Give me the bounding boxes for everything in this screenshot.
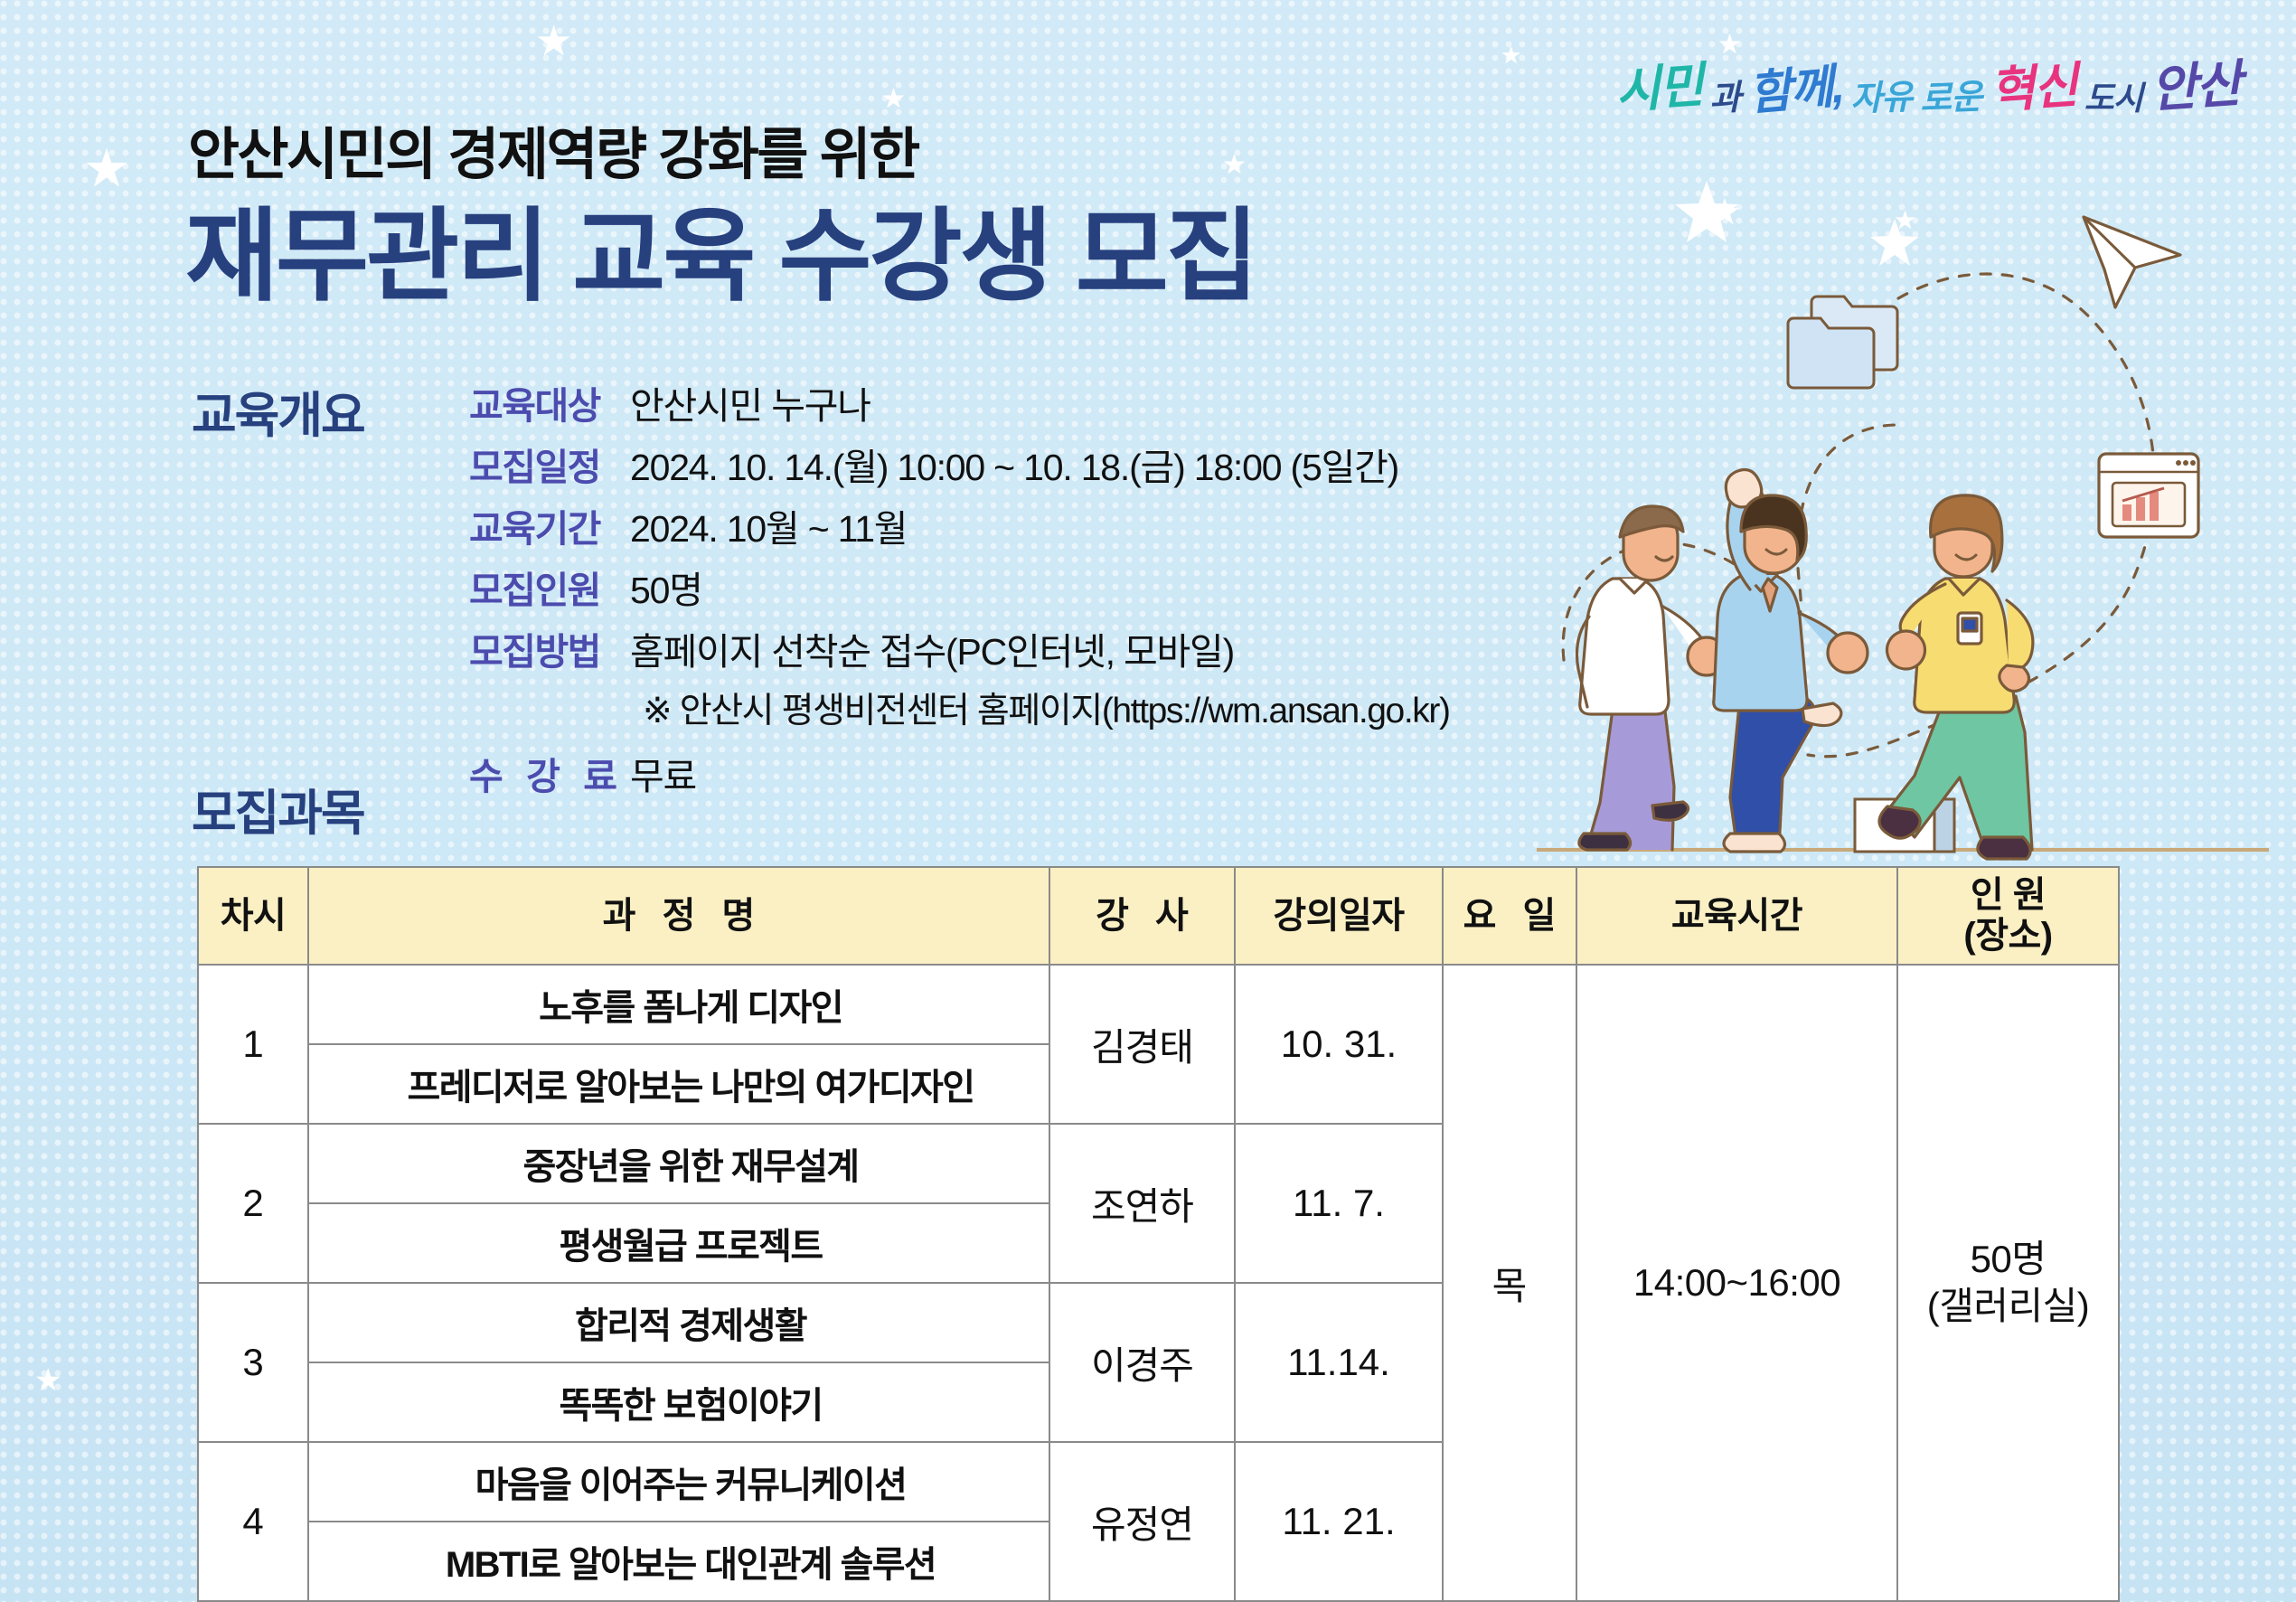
overview-value-method: 홈페이지 선착순 접수(PC인터넷, 모바일): [630, 621, 1234, 675]
star-icon: ★: [1222, 152, 1247, 179]
overview-label-method: 모집방법: [469, 621, 630, 675]
overview-value-fee: 무료: [630, 746, 696, 800]
logo-part-2: 과: [1708, 69, 1741, 119]
col-header-no: 차시: [198, 867, 308, 965]
overview-row-fee: 수 강 료 무료: [469, 746, 1644, 800]
cell-name-3a: 합리적 경제생활: [308, 1283, 1049, 1362]
overview-label-quota: 모집인원: [469, 560, 630, 614]
col-header-teacher: 강 사: [1049, 867, 1235, 965]
cell-no-1: 1: [198, 965, 308, 1124]
star-icon: ★: [83, 143, 130, 195]
col-header-capacity-line2: (장소): [1963, 916, 2052, 956]
overview-label-target: 교육대상: [469, 375, 630, 429]
overview-label-schedule: 모집일정: [469, 437, 630, 491]
cell-teacher-4: 유정연: [1049, 1442, 1235, 1601]
teamwork-illustration: [1537, 154, 2269, 868]
course-table-body: 1 노후를 폼나게 디자인 김경태 10. 31. 목 14:00~16:00 …: [198, 965, 2119, 1601]
cell-date-1: 10. 31.: [1235, 965, 1443, 1124]
col-header-time: 교육시간: [1576, 867, 1897, 965]
cell-no-2: 2: [198, 1124, 308, 1283]
overview-row-quota: 모집인원 50명: [469, 560, 1644, 614]
overview-value-period: 2024. 10월 ~ 11월: [630, 498, 907, 552]
cell-teacher-3: 이경주: [1049, 1283, 1235, 1442]
overview-section-heading: 교육개요: [192, 375, 364, 447]
table-header-row: 차시 과 정 명 강 사 강의일자 요 일 교육시간 인 원 (장소): [198, 867, 2119, 965]
logo-part-4: 자유: [1850, 69, 1914, 120]
overview-list: 교육대상 안산시민 누구나 모집일정 2024. 10. 14.(월) 10:0…: [469, 375, 1644, 807]
cell-time-shared: 14:00~16:00: [1576, 965, 1897, 1601]
cell-name-1a: 노후를 폼나게 디자인: [308, 965, 1049, 1044]
overview-label-fee: 수 강 료: [469, 746, 630, 800]
cell-name-4b: MBTI로 알아보는 대인관계 솔루션: [308, 1522, 1049, 1601]
star-icon: ★: [535, 20, 572, 61]
logo-part-5: 로운: [1919, 69, 1982, 120]
courses-section-heading: 모집과목: [192, 773, 364, 844]
logo-part-3: 함께,: [1746, 48, 1845, 124]
star-icon: ★: [34, 1365, 61, 1396]
logo-part-8: 안산: [2148, 43, 2242, 123]
cell-date-2: 11. 7.: [1235, 1124, 1443, 1283]
col-header-date: 강의일자: [1235, 867, 1443, 965]
cell-capacity-shared: 50명 (갤러리실): [1897, 965, 2119, 1601]
overview-label-period: 교육기간: [469, 498, 630, 552]
course-table-header: 차시 과 정 명 강 사 강의일자 요 일 교육시간 인 원 (장소): [198, 867, 2119, 965]
logo-part-6: 혁신: [1988, 45, 2079, 122]
overview-row-method: 모집방법 홈페이지 선착순 접수(PC인터넷, 모바일): [469, 621, 1644, 675]
cell-date-3: 11.14.: [1235, 1283, 1443, 1442]
cell-day-shared: 목: [1443, 965, 1576, 1601]
overview-row-target: 교육대상 안산시민 누구나: [469, 375, 1644, 429]
star-icon: ★: [1501, 43, 1521, 67]
cell-name-4a: 마음을 이어주는 커뮤니케이션: [308, 1442, 1049, 1522]
col-header-name: 과 정 명: [308, 867, 1049, 965]
course-table: 차시 과 정 명 강 사 강의일자 요 일 교육시간 인 원 (장소) 1 노후…: [197, 866, 2120, 1602]
poster-subtitle: 안산시민의 경제역량 강화를 위한: [188, 108, 918, 190]
capacity-place: (갤러리실): [1927, 1285, 2090, 1327]
poster-title: 재무관리 교육 수강생 모집: [185, 203, 1256, 310]
capacity-count: 50명: [1971, 1238, 2047, 1280]
logo-part-1: 시민: [1613, 45, 1704, 122]
col-header-capacity-line1: 인 원: [1971, 875, 2046, 915]
cell-name-1b: 프레디저로 알아보는 나만의 여가디자인: [308, 1044, 1049, 1124]
cell-no-3: 3: [198, 1283, 308, 1442]
logo-part-7: 도시: [2084, 72, 2142, 119]
cell-teacher-2: 조연하: [1049, 1124, 1235, 1283]
cell-teacher-1: 김경태: [1049, 965, 1235, 1124]
overview-value-quota: 50명: [630, 560, 702, 614]
poster-canvas: ★★★★★★★★★ 시민 과 함께, 자유 로운 혁신 도시 안산 안산시민의 …: [0, 0, 2296, 1602]
overview-value-target: 안산시민 누구나: [630, 375, 870, 429]
overview-row-period: 교육기간 2024. 10월 ~ 11월: [469, 498, 1644, 552]
overview-value-schedule: 2024. 10. 14.(월) 10:00 ~ 10. 18.(금) 18:0…: [630, 437, 1398, 491]
cell-no-4: 4: [198, 1442, 308, 1601]
ansan-city-logo: 시민 과 함께, 자유 로운 혁신 도시 안산: [1615, 42, 2240, 119]
cell-date-4: 11. 21.: [1235, 1442, 1443, 1601]
cell-name-3b: 똑똑한 보험이야기: [308, 1362, 1049, 1442]
table-row: 1 노후를 폼나게 디자인 김경태 10. 31. 목 14:00~16:00 …: [198, 965, 2119, 1044]
col-header-capacity: 인 원 (장소): [1897, 867, 2119, 965]
col-header-day: 요 일: [1443, 867, 1576, 965]
overview-website-note: ※ 안산시 평생비전센터 홈페이지(https://wm.ansan.go.kr…: [643, 683, 1644, 733]
cell-name-2b: 평생월급 프로젝트: [308, 1203, 1049, 1283]
overview-row-schedule: 모집일정 2024. 10. 14.(월) 10:00 ~ 10. 18.(금)…: [469, 437, 1644, 491]
cell-name-2a: 중장년을 위한 재무설계: [308, 1124, 1049, 1203]
